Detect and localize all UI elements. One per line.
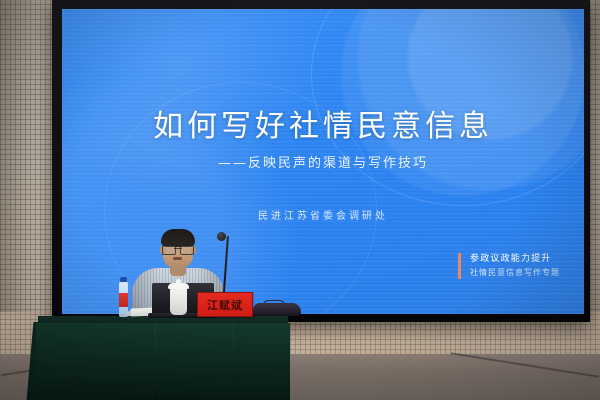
slide-corner-line-1: 参政议政能力提升 bbox=[470, 253, 560, 266]
glasses-lens-right bbox=[180, 245, 194, 255]
water-bottle-cap bbox=[120, 277, 127, 282]
bag bbox=[253, 303, 301, 316]
glasses-lens-left bbox=[162, 245, 176, 255]
slide-subtitle: ——反映民声的渠道与写作技巧 bbox=[62, 152, 584, 171]
tea-mug-knob bbox=[176, 279, 181, 284]
tablecloth bbox=[36, 323, 290, 400]
microphone-icon bbox=[217, 232, 226, 241]
nameplate-text: 江赋斌 bbox=[207, 297, 243, 313]
tea-mug bbox=[170, 287, 187, 315]
slide-organization: 民进江苏省委会调研处 bbox=[62, 207, 584, 222]
speaker-glasses bbox=[162, 245, 194, 253]
tablecloth-fold-a bbox=[155, 323, 156, 400]
slide-corner-badge: 参政议政能力提升 社情民意信息写作专题 bbox=[458, 253, 560, 279]
water-bottle-label bbox=[119, 293, 128, 307]
tablecloth-fold-b bbox=[233, 323, 234, 400]
slide-title: 如何写好社情民意信息 bbox=[62, 101, 584, 145]
floor-seam-right bbox=[451, 352, 599, 377]
speaker-mouth bbox=[173, 257, 182, 260]
nameplate: 江赋斌 bbox=[197, 292, 253, 317]
slide-corner-line-2: 社情民意信息写作专题 bbox=[470, 266, 560, 279]
presentation-scene: 如何写好社情民意信息 ——反映民声的渠道与写作技巧 民进江苏省委会调研处 参政议… bbox=[0, 0, 600, 400]
